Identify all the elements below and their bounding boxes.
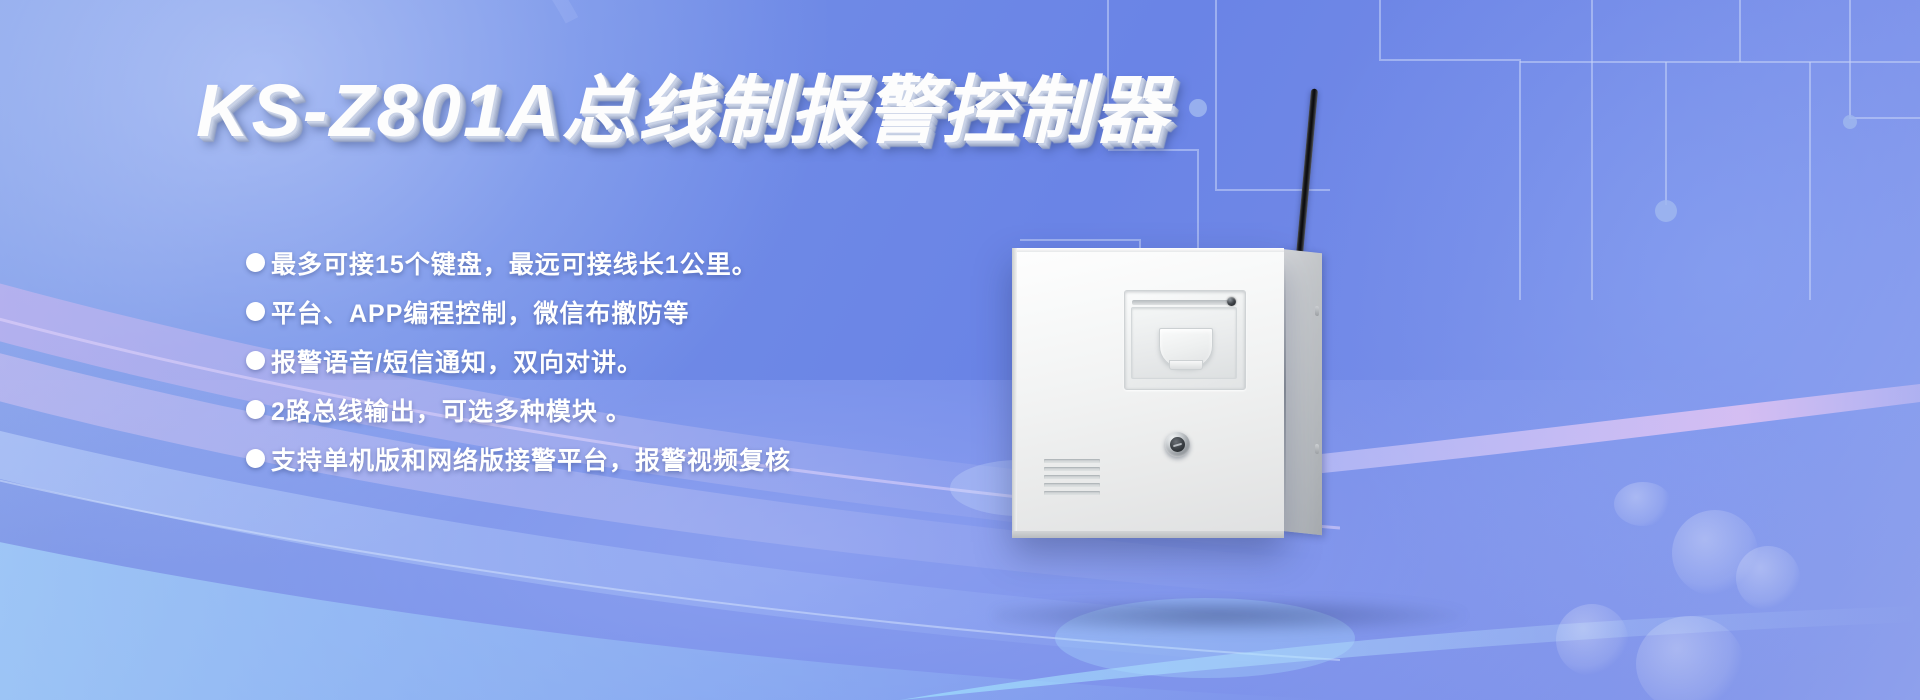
antenna-icon — [1295, 88, 1318, 266]
feature-item: 最多可接15个键盘，最远可接线长1公里。 — [246, 238, 791, 287]
bokeh-circle — [1672, 510, 1758, 596]
vent-slot — [1044, 459, 1100, 463]
cabinet-bottom-edge — [1012, 531, 1284, 538]
alarm-control-panel-image — [1012, 88, 1432, 618]
bokeh-circle — [1736, 546, 1800, 610]
vent-slot — [1044, 467, 1100, 471]
cabinet-side-seam — [1284, 264, 1286, 514]
vent-slot — [1044, 491, 1100, 495]
feature-text: 报警语音/短信通知，双向对讲。 — [271, 343, 643, 379]
feature-text: 支持单机版和网络版接警平台，报警视频复核 — [271, 441, 791, 477]
bokeh-circle — [1614, 482, 1672, 526]
cabinet-front-face — [1012, 248, 1284, 538]
cabinet-left-edge — [1012, 248, 1017, 538]
display-window — [1124, 290, 1246, 390]
feature-item: 平台、APP编程控制，微信布撤防等 — [246, 287, 791, 336]
cabinet-side-face — [1280, 249, 1322, 536]
window-slot — [1132, 300, 1236, 305]
bullet-icon — [246, 400, 265, 419]
side-screw — [1315, 444, 1319, 454]
vent-slot — [1044, 475, 1100, 479]
bullet-icon — [246, 253, 265, 272]
feature-item: 报警语音/短信通知，双向对讲。 — [246, 336, 791, 385]
feature-text: 最多可接15个键盘，最远可接线长1公里。 — [271, 245, 758, 281]
product-banner: KS-Z801A总线制报警控制器 最多可接15个键盘，最远可接线长1公里。 平台… — [0, 0, 1920, 700]
bullet-icon — [246, 449, 265, 468]
vent-slot — [1044, 483, 1100, 487]
feature-text: 平台、APP编程控制，微信布撤防等 — [271, 294, 689, 330]
key-lock-slot — [1173, 442, 1182, 446]
cabinet — [1012, 248, 1344, 538]
ventilation-louvers — [1044, 459, 1100, 499]
feature-item: 2路总线输出，可选多种模块 。 — [246, 385, 791, 434]
status-led-icon — [1227, 297, 1236, 306]
key-lock-core — [1170, 437, 1185, 452]
bullet-icon — [246, 302, 265, 321]
door-handle-lip — [1169, 360, 1203, 370]
bokeh-circle — [1556, 604, 1628, 676]
feature-list: 最多可接15个键盘，最远可接线长1公里。 平台、APP编程控制，微信布撤防等 报… — [246, 238, 791, 483]
cabinet-top-edge — [1012, 248, 1284, 252]
side-screw — [1315, 306, 1319, 316]
display-window-inner — [1131, 307, 1237, 379]
bokeh-circle — [1636, 616, 1744, 700]
bullet-icon — [246, 351, 265, 370]
key-lock-icon — [1165, 432, 1190, 457]
feature-item: 支持单机版和网络版接警平台，报警视频复核 — [246, 434, 791, 483]
feature-text: 2路总线输出，可选多种模块 。 — [271, 392, 632, 428]
